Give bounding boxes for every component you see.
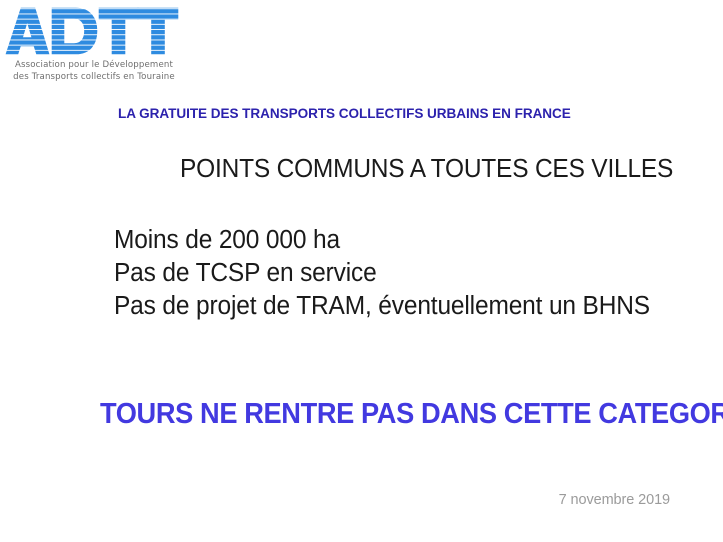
slide-title: LA GRATUITE DES TRANSPORTS COLLECTIFS UR… (118, 106, 571, 122)
body-line: Pas de projet de TRAM, éventuellement un… (114, 290, 690, 323)
presentation-slide: Association pour le Développement des Tr… (0, 0, 723, 542)
adtt-wordmark-icon (4, 4, 180, 60)
highlight-statement: TOURS NE RENTRE PAS DANS CETTE CATEGORIE (100, 398, 723, 431)
body-line: Moins de 200 000 ha (114, 224, 690, 257)
adtt-logo: Association pour le Développement des Tr… (4, 4, 180, 84)
adtt-logo-tagline: Association pour le Développement des Tr… (8, 60, 180, 83)
slide-date: 7 novembre 2019 (0, 492, 670, 508)
body-text-block: Moins de 200 000 ha Pas de TCSP en servi… (114, 224, 714, 323)
slide-subtitle: POINTS COMMUNS A TOUTES CES VILLES (180, 155, 673, 184)
body-line: Pas de TCSP en service (114, 257, 690, 290)
